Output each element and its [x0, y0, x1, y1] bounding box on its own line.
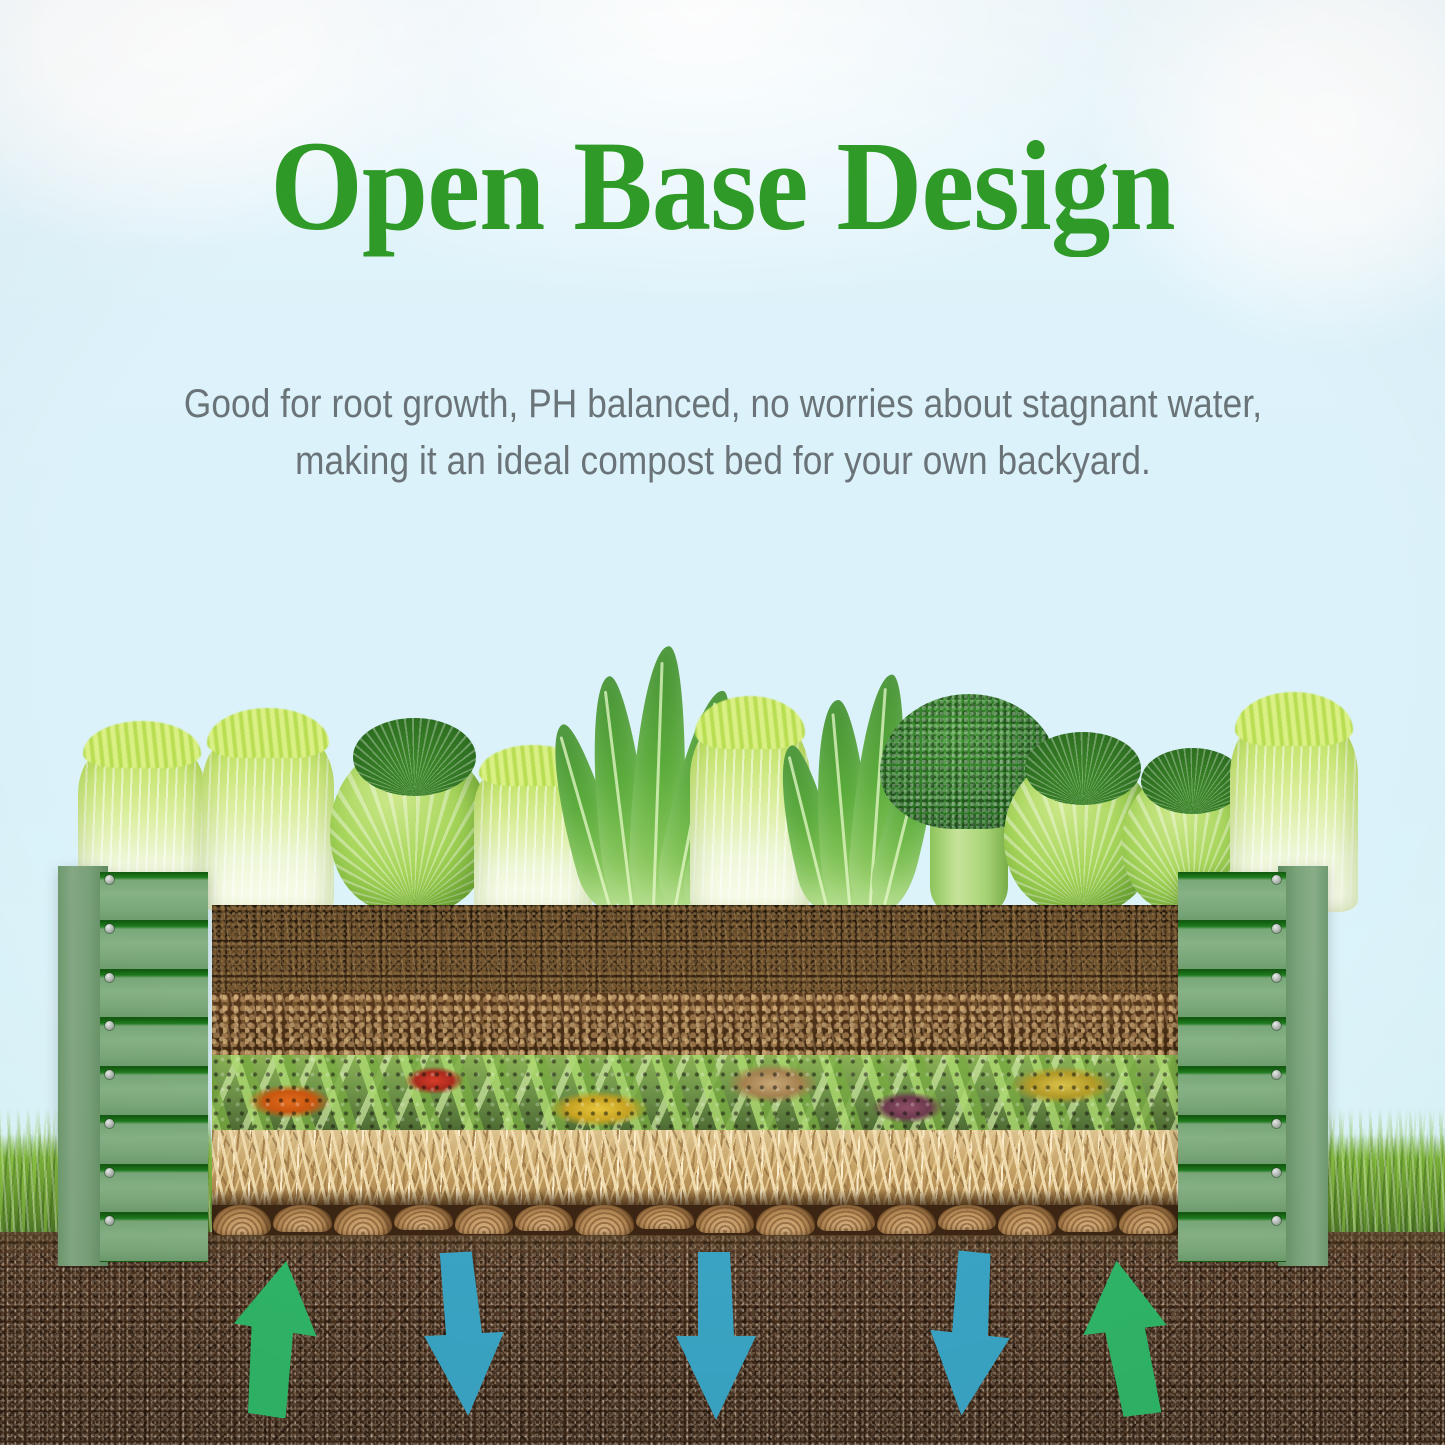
- log-piece: [1058, 1205, 1116, 1232]
- screw-icon: [1272, 1216, 1281, 1225]
- screw-icon: [1272, 1070, 1281, 1079]
- log-piece: [213, 1205, 271, 1235]
- airflow-arrow-up-left: [230, 1258, 318, 1418]
- post-slat: [100, 1213, 208, 1262]
- round-cabbage-plant: [330, 742, 492, 912]
- cabbage-outer-leaf: [353, 718, 476, 796]
- screw-icon: [1272, 1119, 1281, 1128]
- compost-cross-section: [212, 905, 1178, 1235]
- log-piece: [998, 1205, 1056, 1235]
- garden-bed-post-right: [1178, 866, 1328, 1266]
- screw-icon: [1272, 875, 1281, 884]
- log-piece: [1119, 1205, 1177, 1234]
- screw-icon: [105, 1216, 114, 1225]
- product-feature-image: Open Base Design Good for root growth, P…: [0, 0, 1445, 1445]
- airflow-arrow-down-2: [672, 1250, 760, 1422]
- page-subtitle: Good for root growth, PH balanced, no wo…: [98, 376, 1348, 490]
- post-slat: [1178, 921, 1286, 970]
- screw-icon: [1272, 924, 1281, 933]
- log-piece: [636, 1205, 694, 1229]
- post-slat: [100, 970, 208, 1019]
- compost-layer-logs: [212, 1205, 1178, 1235]
- screw-icon: [105, 875, 114, 884]
- garden-bed-post-left: [58, 866, 208, 1266]
- post-slat: [1178, 1067, 1286, 1116]
- subtitle-line-2: making it an ideal compost bed for your …: [98, 433, 1348, 490]
- log-piece: [455, 1205, 513, 1234]
- screw-icon: [1272, 1021, 1281, 1030]
- screw-icon: [105, 924, 114, 933]
- screw-icon: [105, 1119, 114, 1128]
- screw-icon: [105, 1168, 114, 1177]
- airflow-arrow-up-right: [1082, 1258, 1170, 1418]
- log-piece: [756, 1205, 814, 1235]
- log-piece: [273, 1205, 331, 1232]
- log-piece: [334, 1205, 392, 1235]
- screw-icon: [1272, 973, 1281, 982]
- post-slat: [100, 1165, 208, 1214]
- page-title: Open Base Design: [51, 122, 1395, 250]
- post-slat: [100, 921, 208, 970]
- post-slat: [1178, 970, 1286, 1019]
- compost-layer-mulch-soil: [212, 993, 1178, 1055]
- post-slat: [100, 1018, 208, 1067]
- log-piece: [575, 1205, 633, 1235]
- post-slat-stack-left: [100, 872, 208, 1262]
- post-slat: [100, 872, 208, 921]
- screw-icon: [105, 1021, 114, 1030]
- post-slat: [1178, 1165, 1286, 1214]
- compost-layer-kitchen-scraps: [212, 1055, 1178, 1130]
- log-piece: [394, 1205, 452, 1230]
- napa-cabbage-plant: [202, 720, 334, 912]
- airflow-arrow-down-1: [420, 1250, 508, 1418]
- log-piece: [877, 1205, 935, 1234]
- screw-icon: [105, 1070, 114, 1079]
- post-slat: [1178, 1018, 1286, 1067]
- post-slat: [100, 1067, 208, 1116]
- log-piece: [696, 1205, 754, 1233]
- cabbage-outer-leaf: [1025, 732, 1141, 805]
- post-slat: [1178, 1116, 1286, 1165]
- subtitle-line-1: Good for root growth, PH balanced, no wo…: [98, 376, 1348, 433]
- cabbage-outer-leaf: [1141, 748, 1244, 814]
- screw-icon: [1272, 1168, 1281, 1177]
- post-slat: [1178, 872, 1286, 921]
- log-piece: [938, 1205, 996, 1230]
- log-piece: [817, 1205, 875, 1231]
- compost-layer-straw: [212, 1130, 1178, 1205]
- airflow-arrow-down-3: [926, 1250, 1014, 1418]
- screw-icon: [105, 973, 114, 982]
- post-slat: [1178, 1213, 1286, 1262]
- compost-layer-topsoil: [212, 905, 1178, 993]
- post-slat-stack-right: [1178, 872, 1286, 1262]
- post-slat: [100, 1116, 208, 1165]
- log-piece: [515, 1205, 573, 1231]
